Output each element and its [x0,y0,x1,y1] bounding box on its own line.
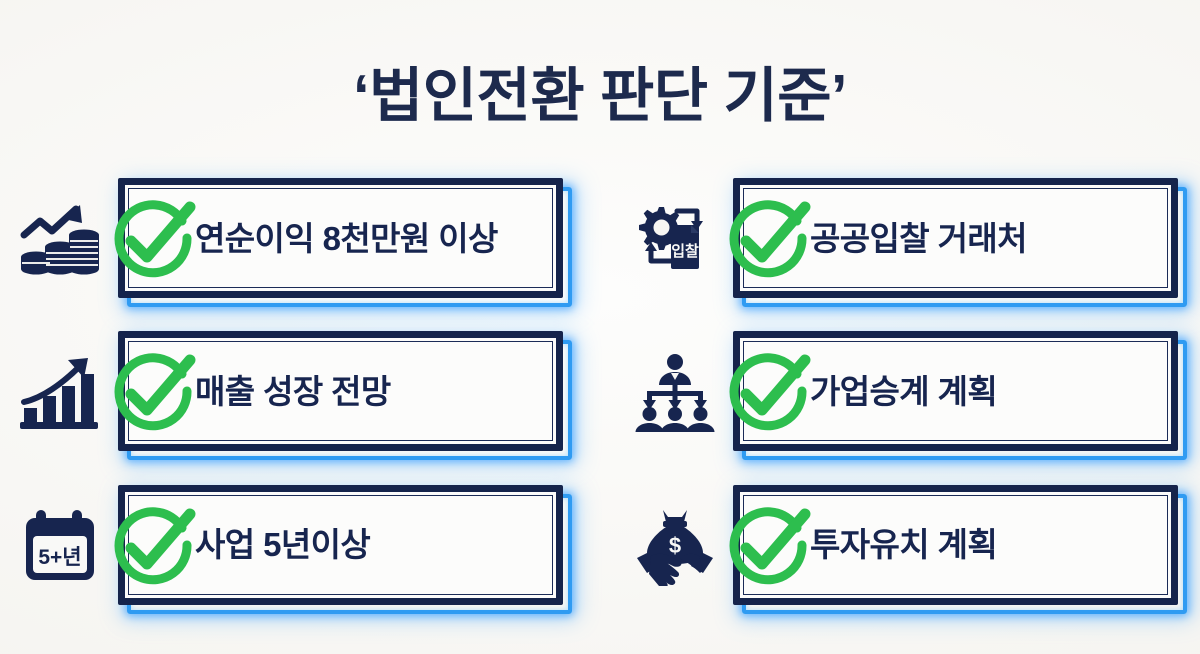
green-check-circle-icon [719,191,815,287]
criteria-grid: 연순이익 8천만원 이상 입찰 [0,163,1200,623]
money-bag-handshake-icon: $ [633,506,717,586]
bid-document-text: 입찰 [671,243,699,260]
green-check-circle-icon [104,191,200,287]
green-check-circle-icon [104,498,200,594]
green-check-circle-icon [104,344,200,440]
gear-bid-document-icon: 입찰 [633,199,717,279]
criteria-item-investment-attraction[interactable]: $ 투자유치 계획 [615,470,1200,623]
criteria-item-revenue-growth[interactable]: 매출 성장 전망 [0,316,585,469]
criteria-item-public-bidding-client[interactable]: 입찰 공공입찰 거래처 [615,163,1200,316]
bar-chart-growth-arrow-icon [18,352,102,432]
green-check-circle-icon [719,498,815,594]
title-container: ‘법인전환 판단 기준’ [0,26,1200,167]
org-chart-succession-icon [633,352,717,432]
calendar-five-plus-years-icon: 5+년 [18,506,102,586]
coins-growth-arrow-icon [18,199,102,279]
svg-text:$: $ [669,533,681,558]
criteria-item-business-succession[interactable]: 가업승계 계획 [615,316,1200,469]
green-check-circle-icon [719,344,815,440]
page-title: ‘법인전환 판단 기준’ [353,66,847,128]
criteria-item-business-years[interactable]: 5+년 사업 5년이상 [0,470,585,623]
criteria-item-annual-net-profit[interactable]: 연순이익 8천만원 이상 [0,163,585,316]
calendar-years-text: 5+년 [38,546,81,569]
